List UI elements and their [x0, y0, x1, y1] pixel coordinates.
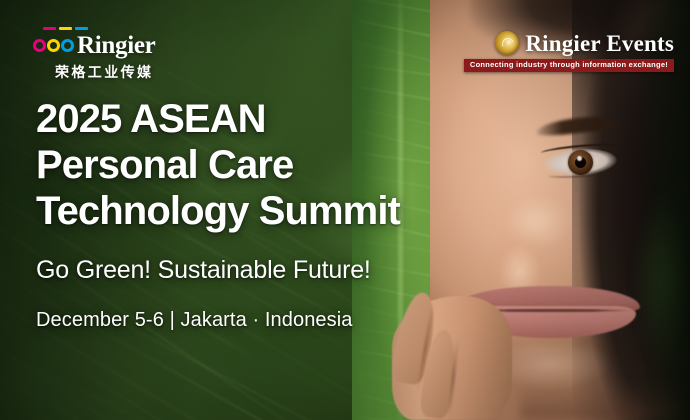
- logo-ring-2: [47, 39, 60, 52]
- logo-dash-3: [75, 27, 88, 30]
- ringier-chinese-name: 荣格工业传媒: [55, 62, 193, 82]
- logo-ring-3: [61, 39, 74, 52]
- logo-dash-1: [43, 27, 56, 30]
- logo-dashes: [43, 27, 193, 30]
- eye-catchlight: [577, 156, 582, 161]
- logo-rings: [33, 39, 74, 52]
- event-slogan: Go Green! Sustainable Future!: [36, 258, 400, 283]
- headline-block: 2025 ASEAN Personal Care Technology Summ…: [36, 96, 400, 330]
- leaf-mottle: [10, 330, 150, 420]
- headline-line-2: Personal Care: [36, 142, 400, 188]
- event-promo-banner: Ringier 荣格工业传媒 Ringier Events Connecting…: [0, 0, 690, 420]
- events-tagline: Connecting industry through information …: [470, 61, 668, 69]
- ringier-events-logo[interactable]: Ringier Events Connecting industry throu…: [464, 31, 674, 72]
- events-logo-row: Ringier Events: [464, 31, 674, 55]
- headline-line-1: 2025 ASEAN: [36, 96, 400, 142]
- ringier-logo[interactable]: Ringier 荣格工业传媒: [33, 27, 193, 82]
- logo-dash-2: [59, 27, 72, 30]
- events-wordmark: Ringier Events: [525, 32, 674, 55]
- events-tagline-bar: Connecting industry through information …: [464, 59, 674, 72]
- event-date-location: December 5-6 | Jakarta · Indonesia: [36, 310, 400, 330]
- spiral-shell-icon: [495, 31, 519, 55]
- headline-line-3: Technology Summit: [36, 188, 400, 234]
- logo-ring-1: [33, 39, 46, 52]
- logo-mark-row: Ringier: [33, 33, 193, 58]
- ringier-wordmark: Ringier: [77, 33, 155, 58]
